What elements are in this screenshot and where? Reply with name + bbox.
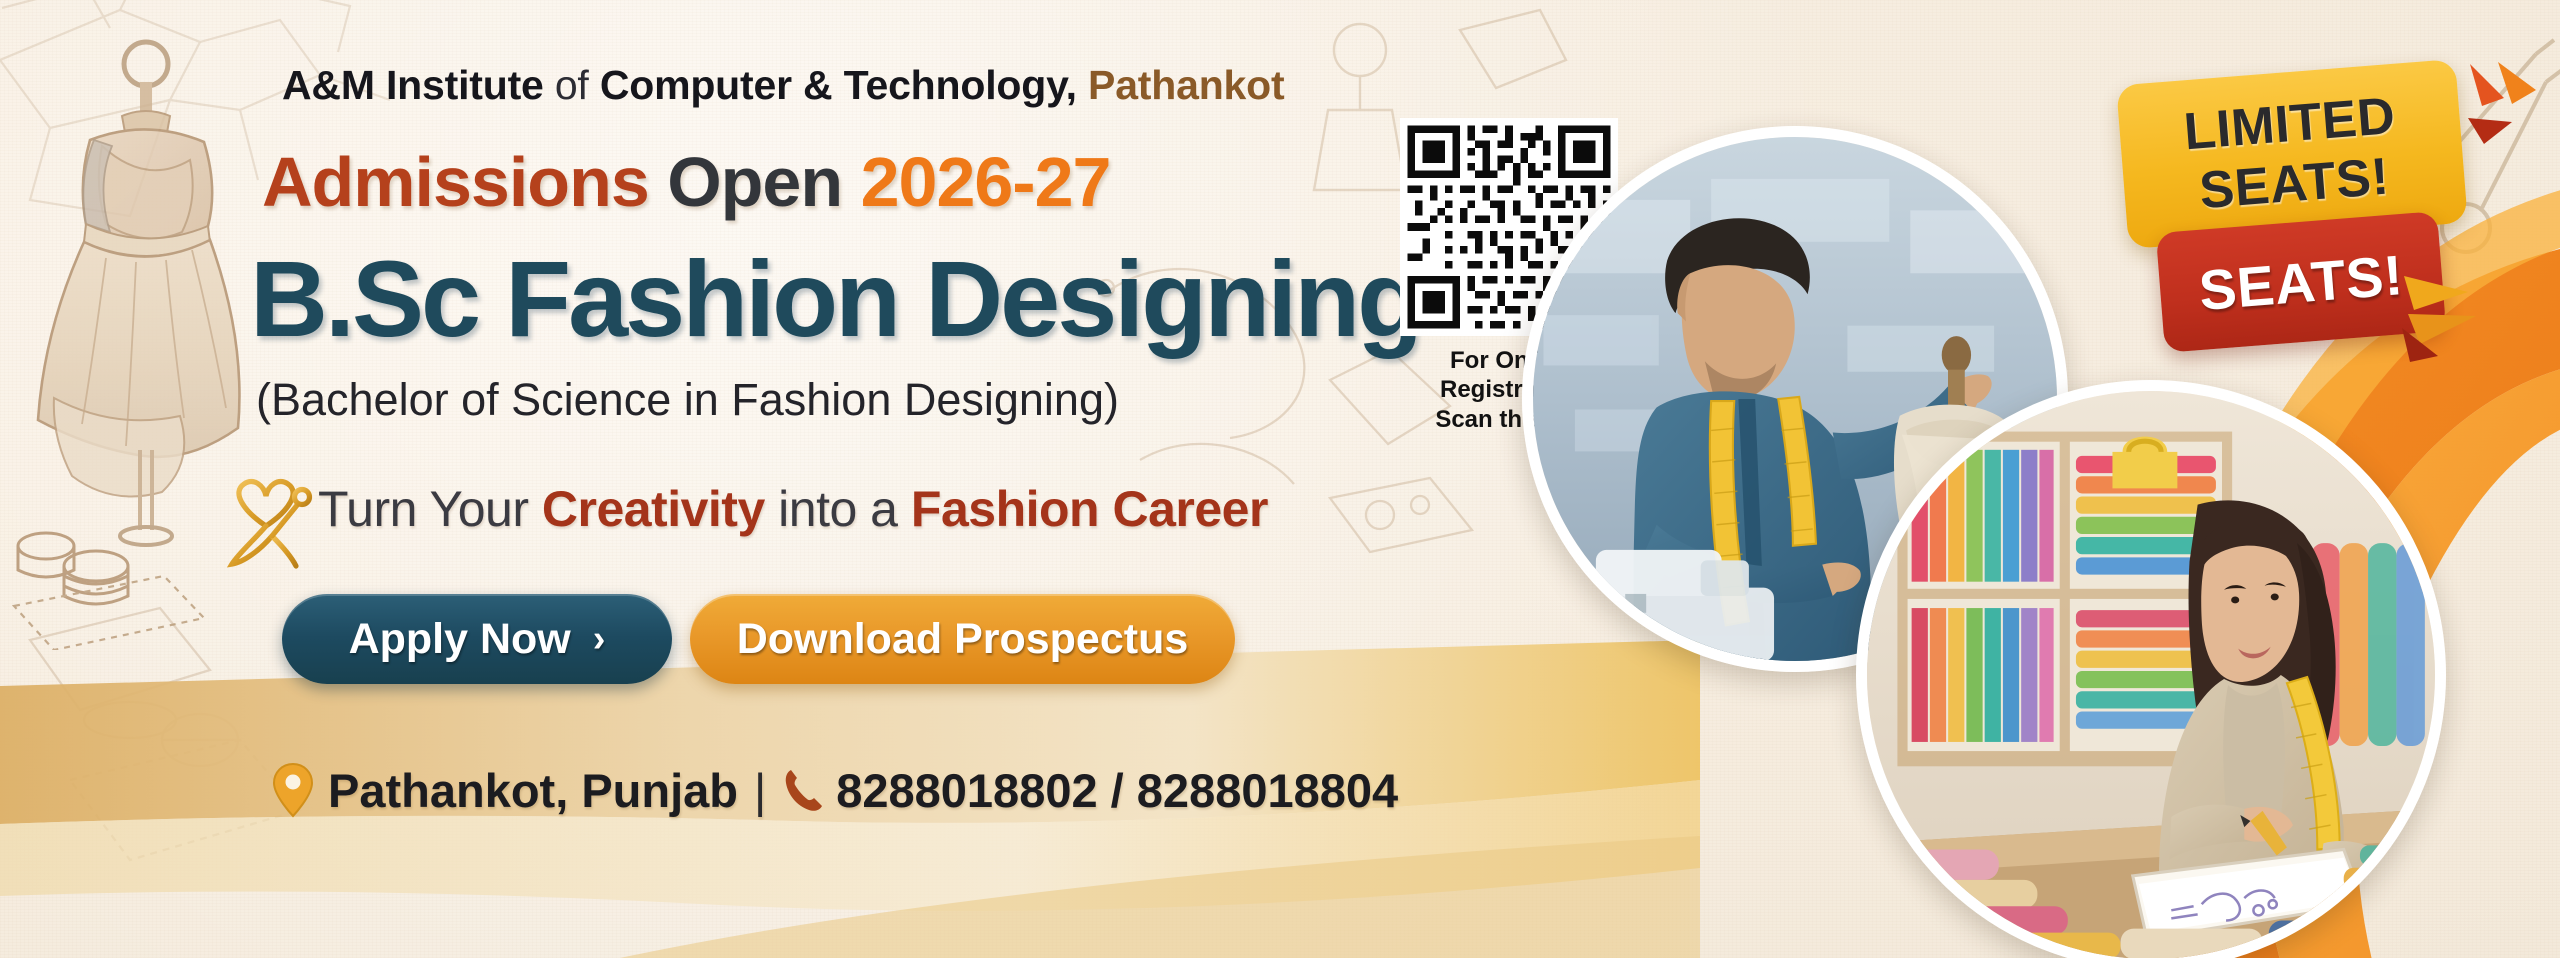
admission-banner: A&M Institute of Computer & Technology, … [0, 0, 2560, 958]
open-word: Open [667, 143, 842, 221]
institute-name-am: A&M [282, 62, 375, 108]
institute-name-technology: Technology, [844, 62, 1077, 108]
location-pin-icon [272, 762, 314, 818]
institute-name: A&M Institute of Computer & Technology, … [282, 62, 1284, 109]
seats-badge-label: SEATS! [2197, 242, 2406, 323]
sparkle-burst-top [2462, 60, 2560, 180]
photo-female-student [1856, 380, 2446, 958]
chevron-right-icon: › [593, 618, 606, 661]
apply-now-label: Apply Now [349, 615, 571, 664]
course-title: B.Sc Fashion Designing [250, 236, 1420, 361]
institute-name-city: Pathankot [1088, 62, 1284, 108]
photo-female-student-image [1867, 391, 2435, 958]
phone-icon [782, 767, 826, 813]
limited-seats-line2: SEATS! [2198, 151, 2391, 218]
content-column: A&M Institute of Computer & Technology, … [0, 0, 1470, 958]
course-subtitle: (Bachelor of Science in Fashion Designin… [256, 374, 1119, 426]
tagline-fashion-career: Fashion Career [911, 481, 1268, 537]
institute-name-of: of [555, 62, 589, 108]
download-prospectus-button[interactable]: Download Prospectus [690, 594, 1235, 684]
tagline-seg1: Turn Your [318, 481, 528, 537]
admission-year: 2026-27 [861, 143, 1111, 221]
apply-now-button[interactable]: Apply Now › [282, 594, 672, 684]
needle-heart-icon [222, 470, 318, 574]
admissions-word: Admissions [262, 143, 649, 221]
footer-separator: | [754, 763, 766, 818]
footer-contact: Pathankot, Punjab | 8288018802 / 8288018… [272, 760, 1398, 820]
institute-name-institute: Institute [386, 62, 544, 108]
limited-seats-line1: LIMITED [2182, 90, 2397, 158]
seats-badge: SEATS! [2156, 211, 2447, 353]
admissions-open-line: Admissions Open 2026-27 [262, 142, 1110, 222]
institute-name-amp: & [803, 62, 832, 108]
tagline-seg3: into a [778, 481, 897, 537]
tagline: Turn Your Creativity into a Fashion Care… [318, 480, 1268, 538]
footer-phones: 8288018802 / 8288018804 [836, 763, 1398, 818]
institute-name-computer: Computer [600, 62, 792, 108]
footer-location: Pathankot, Punjab [328, 763, 738, 818]
tagline-creativity: Creativity [542, 481, 765, 537]
download-prospectus-label: Download Prospectus [737, 615, 1189, 664]
